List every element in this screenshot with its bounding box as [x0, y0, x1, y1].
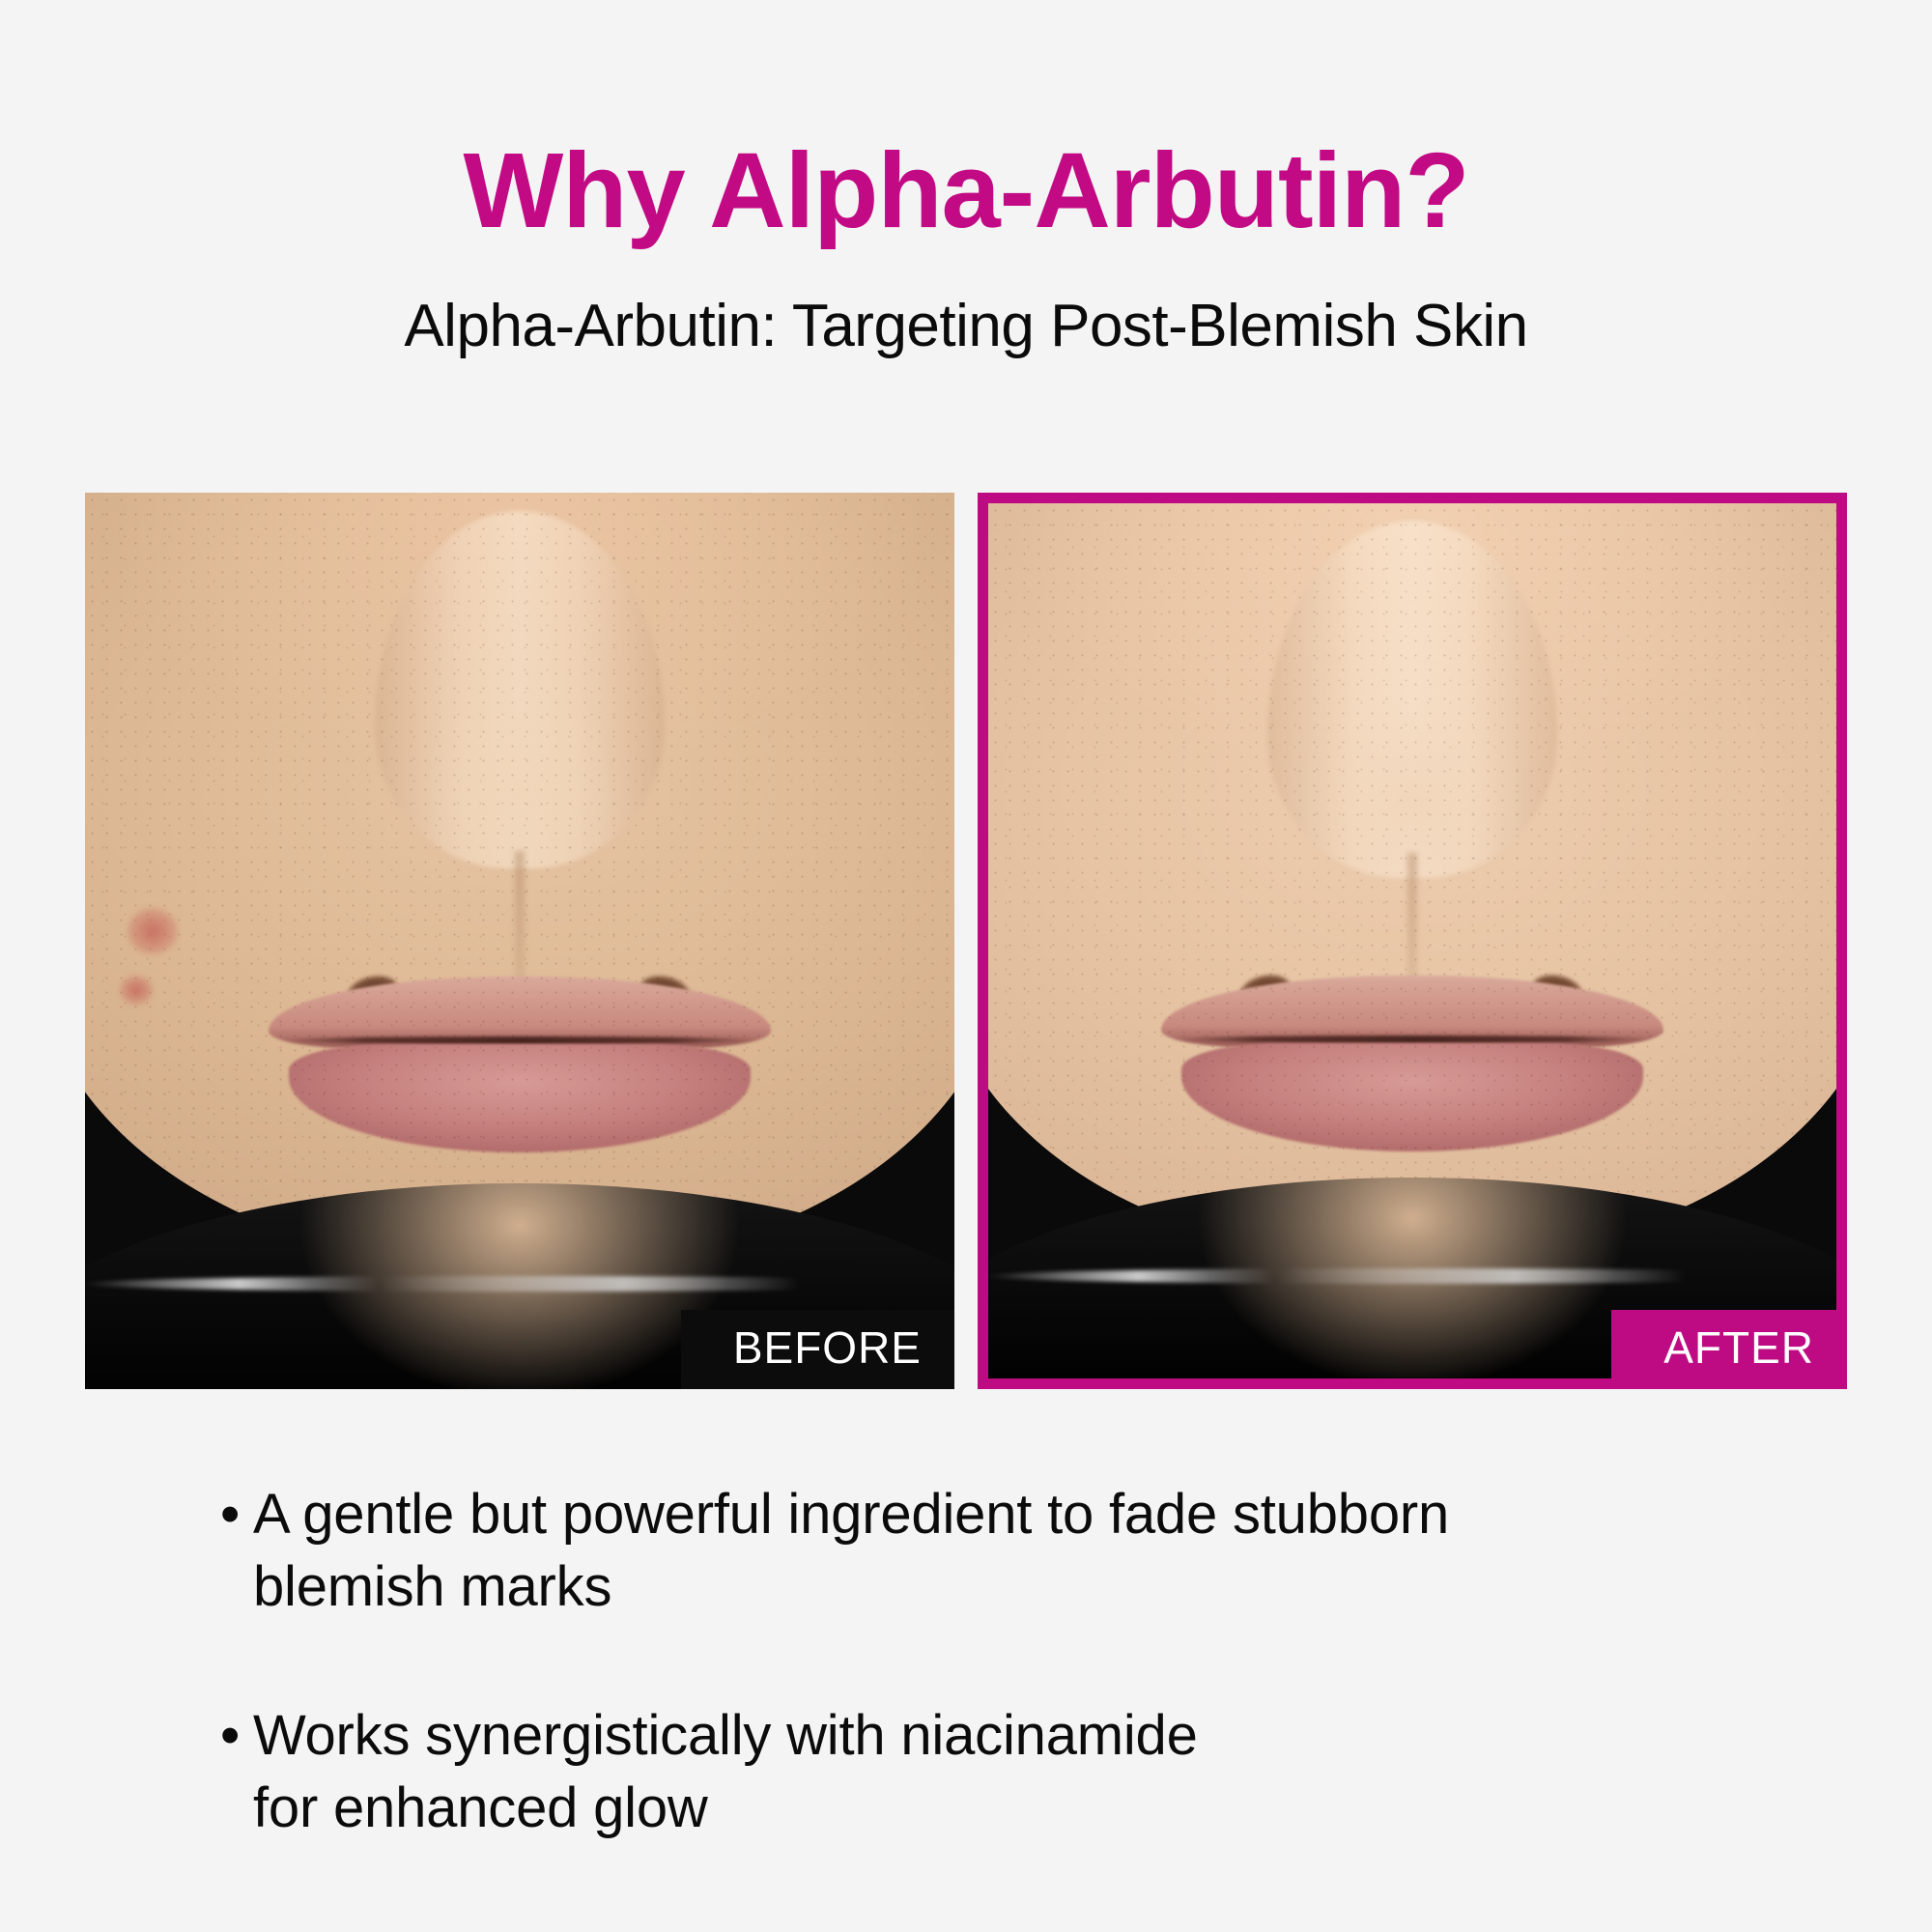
bullet-marker-icon: •	[220, 1699, 253, 1772]
collar-highlight	[988, 1268, 1836, 1284]
badge-before: BEFORE	[681, 1310, 954, 1389]
before-after-comparison: BEFORE AFTER	[85, 493, 1847, 1389]
badge-after: AFTER	[1611, 1310, 1847, 1389]
collar-highlight	[85, 1276, 954, 1292]
list-item-label: A gentle but powerful ingredient to fade…	[253, 1478, 1449, 1624]
benefits-list: • A gentle but powerful ingredient to fa…	[220, 1478, 1727, 1920]
bullet-marker-icon: •	[220, 1478, 253, 1550]
before-photo	[85, 493, 954, 1389]
list-item-label: Works synergistically with niacinamide f…	[253, 1699, 1198, 1845]
promo-card: Why Alpha-Arbutin? Alpha-Arbutin: Target…	[0, 0, 1932, 1932]
after-photo	[988, 503, 1836, 1378]
before-image-pane: BEFORE	[85, 493, 954, 1389]
list-item: • A gentle but powerful ingredient to fa…	[220, 1478, 1727, 1624]
header: Why Alpha-Arbutin? Alpha-Arbutin: Target…	[0, 0, 1932, 360]
page-subtitle: Alpha-Arbutin: Targeting Post-Blemish Sk…	[0, 292, 1932, 360]
blemish-mark	[120, 976, 153, 1005]
list-item: • Works synergistically with niacinamide…	[220, 1699, 1727, 1845]
page-title: Why Alpha-Arbutin?	[0, 135, 1932, 247]
after-image-pane: AFTER	[978, 493, 1847, 1389]
blemish-mark	[128, 908, 178, 954]
